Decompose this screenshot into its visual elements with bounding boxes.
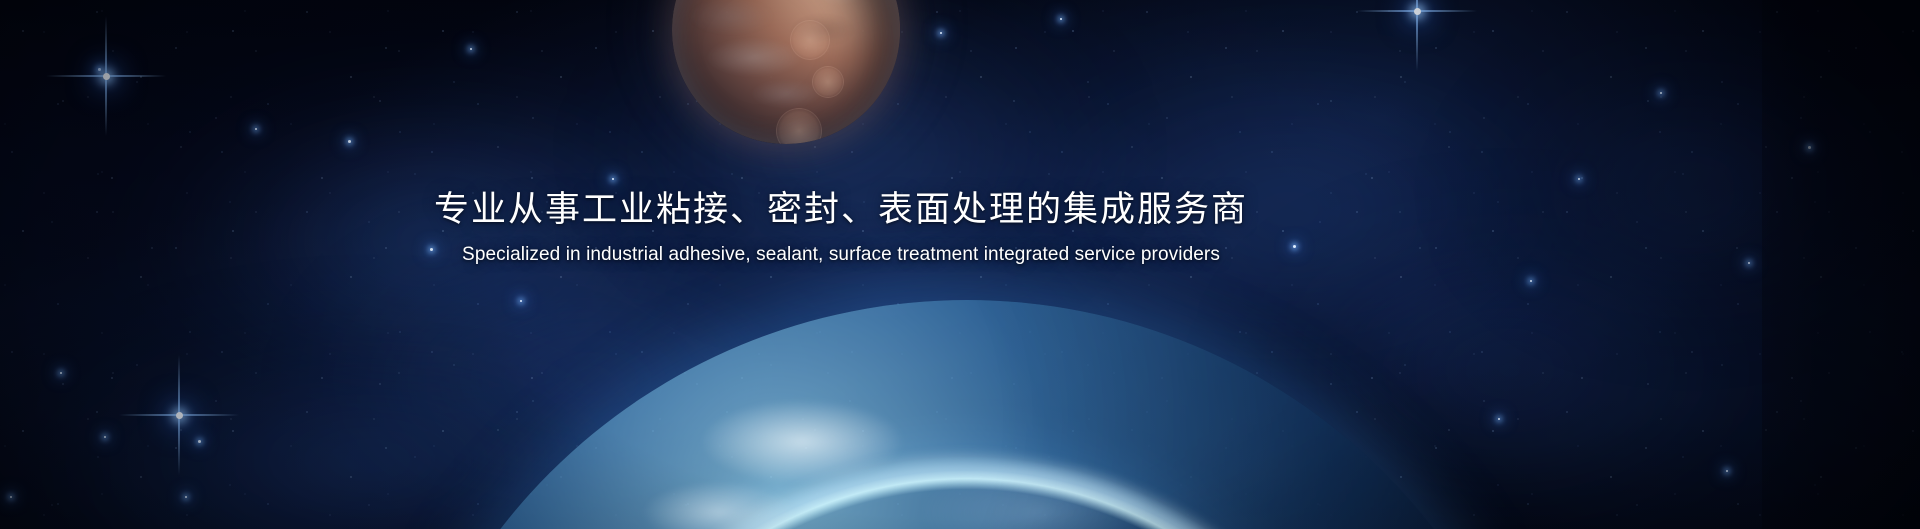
star-icon	[185, 496, 187, 498]
star-icon	[1060, 18, 1062, 20]
earth-planet	[377, 300, 1557, 529]
star-icon	[1578, 178, 1580, 180]
earth-rim-light	[373, 296, 1561, 529]
star-icon	[98, 68, 101, 71]
flare-star-icon	[105, 75, 107, 77]
hero-copy-block: 专业从事工业粘接、密封、表面处理的集成服务商 Specialized in in…	[0, 186, 1920, 268]
hero-title-chinese: 专业从事工业粘接、密封、表面处理的集成服务商	[0, 186, 1682, 234]
flare-star-icon	[178, 414, 180, 416]
star-icon	[612, 178, 614, 180]
hero-subtitle-english: Specialized in industrial adhesive, seal…	[0, 242, 1682, 268]
star-icon	[198, 440, 201, 443]
star-icon	[348, 140, 351, 143]
flare-star-icon	[1416, 10, 1418, 12]
hero-banner: 专业从事工业粘接、密封、表面处理的集成服务商 Specialized in in…	[0, 0, 1920, 529]
star-icon	[1530, 280, 1532, 282]
star-icon	[470, 48, 472, 50]
star-icon	[255, 128, 257, 130]
star-icon	[60, 372, 62, 374]
star-icon	[104, 436, 106, 438]
star-icon	[1660, 92, 1662, 94]
star-icon	[10, 496, 12, 498]
star-icon	[1726, 470, 1728, 472]
